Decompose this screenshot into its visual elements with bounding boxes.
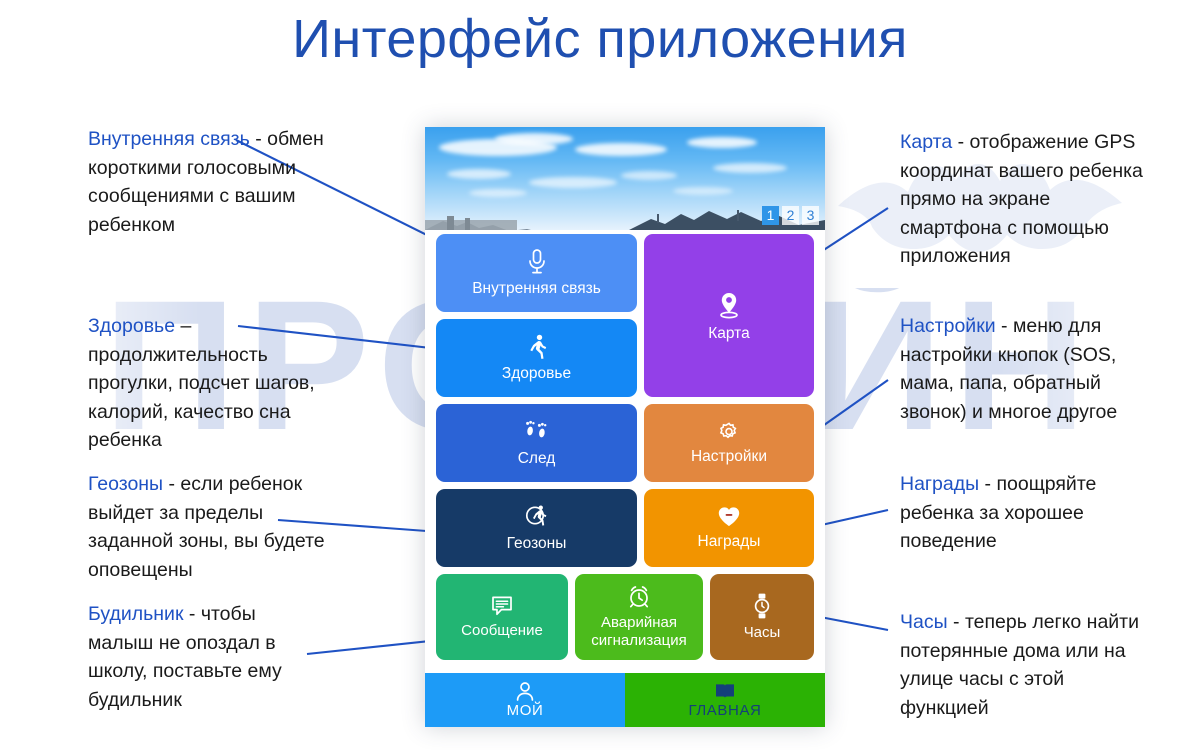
nav-item-my[interactable]: МОЙ	[425, 673, 625, 727]
tile-rewards[interactable]: Награды	[644, 489, 814, 567]
annotation-alarm-heading: Будильник	[88, 603, 183, 625]
pager-dot-3[interactable]: 3	[802, 206, 819, 225]
map-pin-icon	[716, 289, 742, 321]
phone-mockup: 1 2 3 Внутренняя связь	[425, 127, 825, 727]
tile-rewards-label: Награды	[698, 533, 761, 551]
nav-item-my-label: МОЙ	[507, 702, 544, 719]
bottom-navbar: МОЙ ГЛАВНАЯ	[425, 673, 825, 727]
annotation-intercom-heading: Внутренняя связь	[88, 128, 250, 150]
tile-watch[interactable]: Часы	[710, 574, 814, 660]
alarm-clock-icon	[626, 584, 652, 610]
tile-health-label: Здоровье	[502, 365, 571, 383]
tile-intercom-label: Внутренняя связь	[472, 280, 601, 298]
annotation-settings: Настройки - меню для настройки кнопок (S…	[900, 312, 1152, 426]
annotation-watch-heading: Часы	[900, 611, 948, 633]
annotation-settings-heading: Настройки	[900, 315, 996, 337]
heart-icon	[716, 505, 742, 529]
annotation-intercom: Внутренняя связь - обмен короткими голос…	[88, 125, 333, 239]
tile-alarm-label: Аварийная сигнализация	[575, 614, 703, 650]
tile-message[interactable]: Сообщение	[436, 574, 568, 660]
tile-settings-label: Настройки	[691, 448, 767, 466]
gear-icon	[717, 420, 741, 444]
tile-geozones[interactable]: Геозоны	[436, 489, 637, 567]
pager-dot-2[interactable]: 2	[782, 206, 799, 225]
book-icon	[714, 681, 736, 701]
annotation-map-heading: Карта	[900, 131, 952, 153]
tile-grid: Внутренняя связь Здоровье Карта	[425, 230, 825, 670]
annotation-geozones: Геозоны - если ребенок выйдет за пределы…	[88, 470, 338, 584]
geofence-icon	[523, 503, 551, 531]
tile-track-label: След	[518, 450, 556, 468]
annotation-rewards: Награды - поощряйте ребенка за хорошее п…	[900, 470, 1140, 556]
tile-alarm[interactable]: Аварийная сигнализация	[575, 574, 703, 660]
header-photo: 1 2 3	[425, 127, 825, 230]
tile-watch-label: Часы	[744, 624, 781, 642]
photo-pager[interactable]: 1 2 3	[762, 206, 819, 225]
person-icon	[514, 681, 536, 701]
tile-intercom[interactable]: Внутренняя связь	[436, 234, 637, 312]
annotation-geozones-heading: Геозоны	[88, 473, 163, 495]
page-title: Интерфейс приложения	[0, 8, 1200, 70]
microphone-icon	[525, 248, 549, 276]
nav-item-main[interactable]: ГЛАВНАЯ	[625, 673, 825, 727]
tile-map-label: Карта	[708, 325, 749, 343]
tile-settings[interactable]: Настройки	[644, 404, 814, 482]
nav-item-main-label: ГЛАВНАЯ	[688, 702, 761, 719]
tile-geozones-label: Геозоны	[507, 535, 567, 553]
pager-dot-1[interactable]: 1	[762, 206, 779, 225]
annotation-alarm: Будильник - чтобы малыш не опоздал в шко…	[88, 600, 320, 714]
chat-icon	[489, 594, 515, 618]
annotation-health: Здоровье – продолжительность прогулки, п…	[88, 312, 353, 455]
tile-message-label: Сообщение	[461, 622, 543, 640]
tile-track[interactable]: След	[436, 404, 637, 482]
footprints-icon	[523, 418, 551, 446]
annotation-watch: Часы - теперь легко найти потерянные дом…	[900, 608, 1148, 722]
tile-health[interactable]: Здоровье	[436, 319, 637, 397]
watch-icon	[751, 592, 773, 620]
runner-icon	[525, 333, 549, 361]
annotation-map: Карта - отображение GPS координат вашего…	[900, 128, 1150, 271]
poster: ПРОЛАЙН Интерфейс приложения Внутренняя …	[0, 0, 1200, 750]
annotation-rewards-heading: Награды	[900, 473, 979, 495]
annotation-health-heading: Здоровье	[88, 315, 175, 337]
tile-map[interactable]: Карта	[644, 234, 814, 397]
